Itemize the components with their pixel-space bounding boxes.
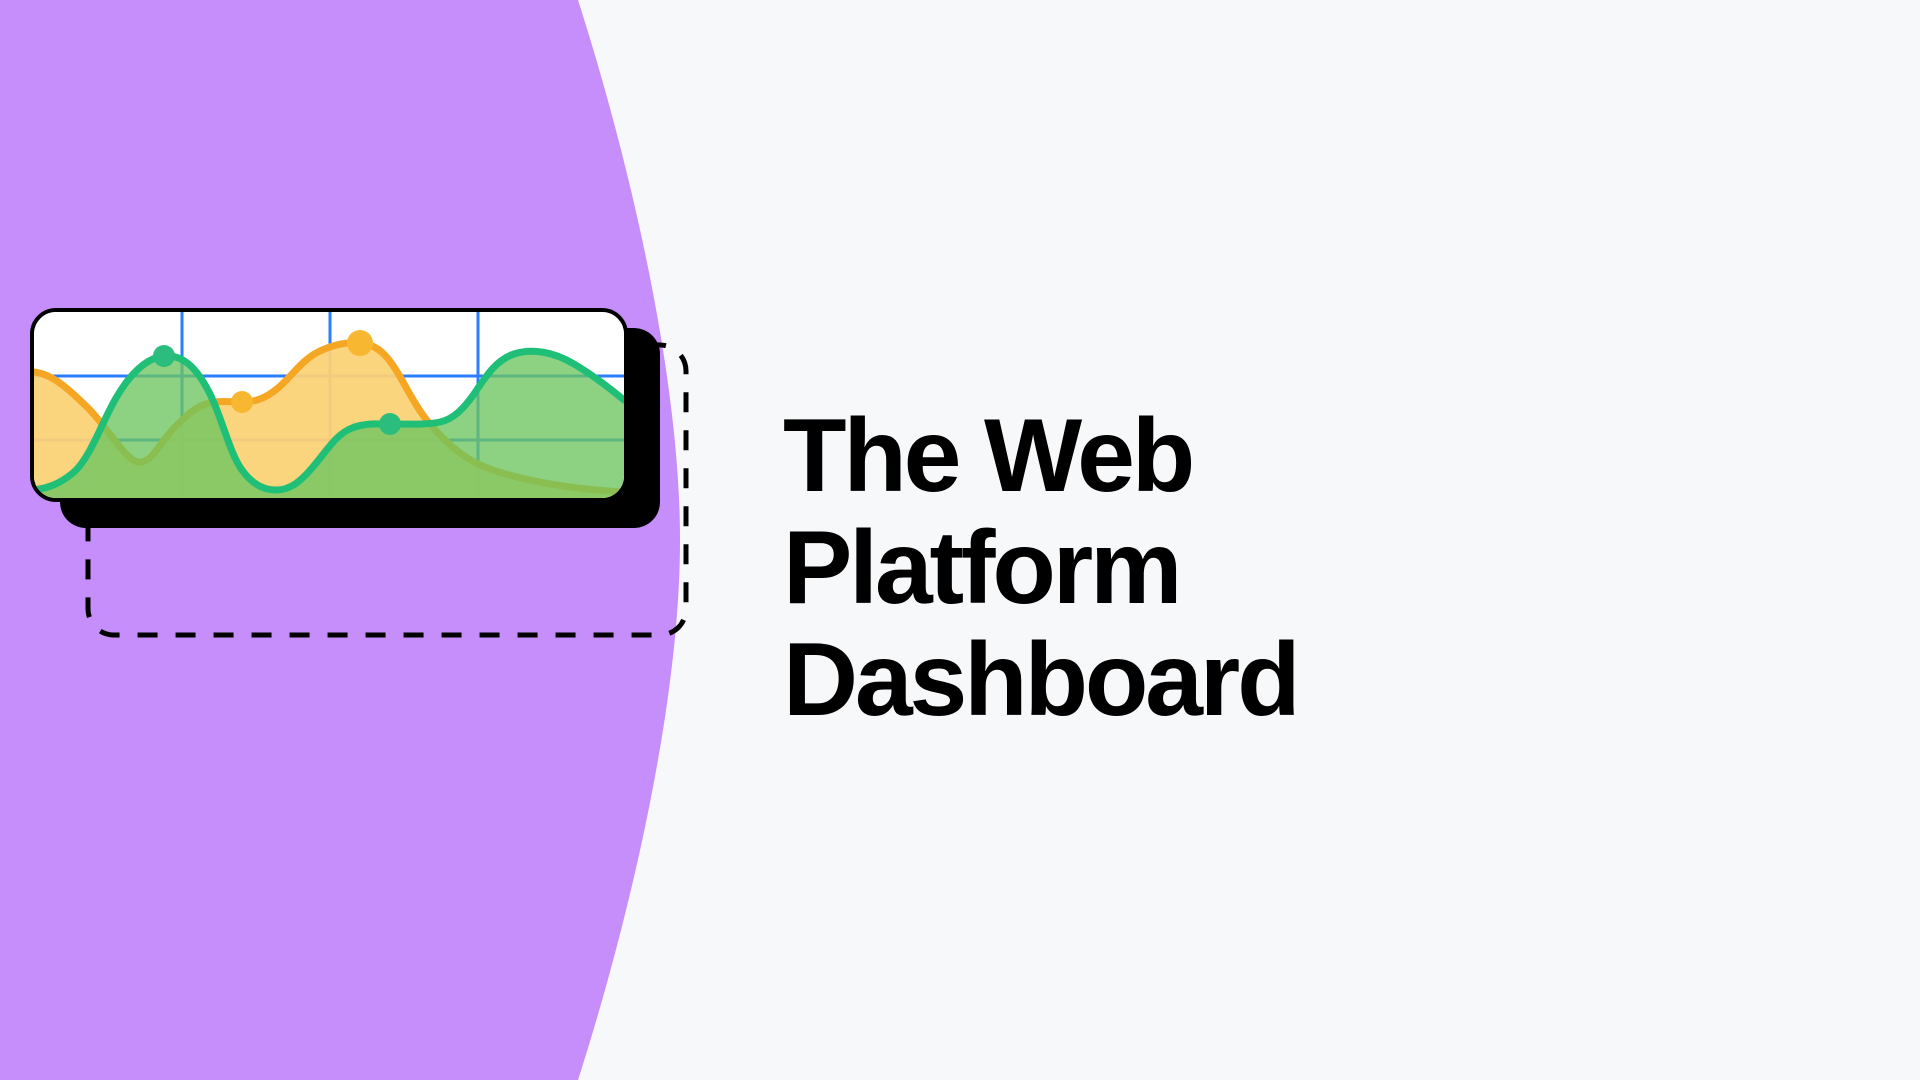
marker-yellow-2[interactable] bbox=[347, 330, 373, 356]
marker-green-2[interactable] bbox=[379, 413, 401, 435]
marker-yellow-1[interactable] bbox=[231, 391, 253, 413]
page-title: The Web Platform Dashboard bbox=[783, 400, 1683, 737]
page-title-line-1: The Web bbox=[783, 400, 1683, 512]
page-title-line-2: Platform bbox=[783, 512, 1683, 624]
marker-green-1[interactable] bbox=[153, 345, 175, 367]
area-chart-svg bbox=[34, 312, 624, 498]
page-title-line-3: Dashboard bbox=[783, 624, 1683, 736]
chart-card-surface[interactable] bbox=[30, 308, 628, 502]
chart-card[interactable] bbox=[30, 300, 690, 560]
hero-stage: The Web Platform Dashboard bbox=[0, 0, 1920, 1080]
